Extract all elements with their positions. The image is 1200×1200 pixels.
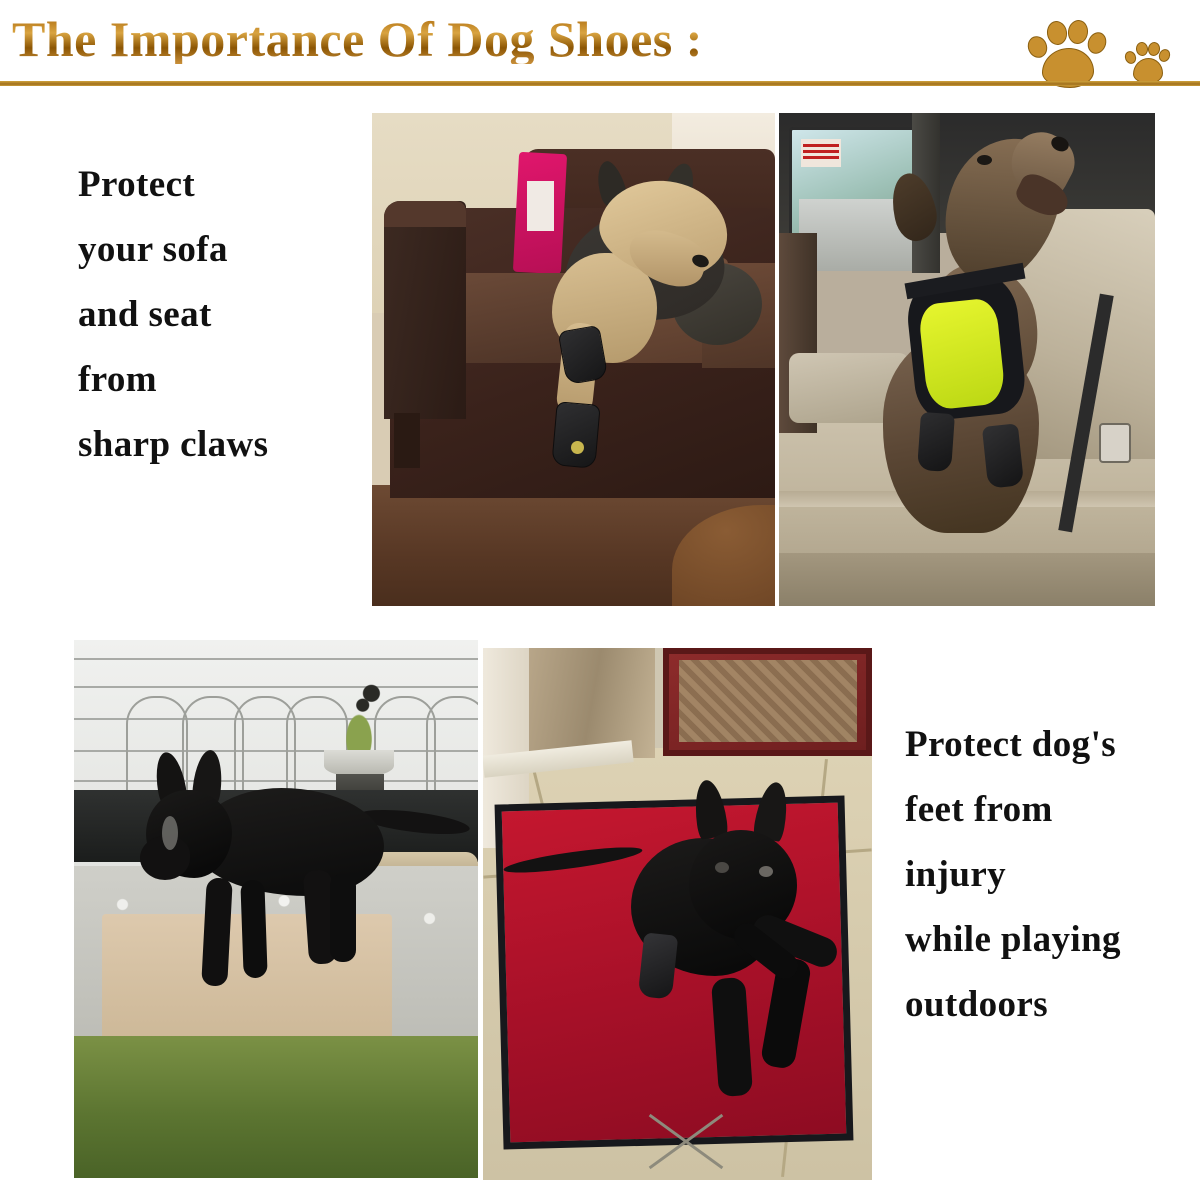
- caption-right-line-3: injury: [905, 842, 1197, 907]
- dog-harness-yellow: [918, 297, 1007, 411]
- siding-line: [74, 658, 478, 660]
- caption-right: Protect dog's feet from injury while pla…: [905, 712, 1197, 1038]
- sofa-leg: [394, 413, 420, 468]
- caption-left: Protect your sofa and seat from sharp cl…: [78, 152, 368, 478]
- title-divider-rule: [0, 81, 1200, 86]
- dog-eye: [759, 866, 773, 877]
- green-grass-lawn: [74, 1036, 478, 1178]
- seat-belt-buckle: [1099, 423, 1131, 463]
- window-sticker-text: [803, 144, 839, 160]
- paw-toe: [1025, 33, 1051, 61]
- oriental-rug-pattern: [679, 660, 857, 742]
- caption-left-line-3: and seat: [78, 282, 368, 347]
- dog-chest-marking: [162, 816, 178, 850]
- caption-left-line-1: Protect: [78, 152, 368, 217]
- dog-eye: [715, 862, 729, 873]
- caption-right-line-4: while playing: [905, 907, 1197, 972]
- caption-right-line-5: outdoors: [905, 972, 1197, 1037]
- potted-plant-foliage: [328, 680, 390, 754]
- pillow-tag: [527, 181, 554, 231]
- dog-boot-reflector: [571, 441, 584, 454]
- siding-line: [74, 686, 478, 688]
- page-header: The Importance Of Dog Shoes :: [0, 0, 1200, 90]
- caption-right-line-1: Protect dog's: [905, 712, 1197, 777]
- decorative-fence-arch: [426, 696, 478, 794]
- curtain: [529, 648, 655, 758]
- dog-boot: [917, 412, 955, 472]
- dog-boot: [551, 401, 600, 469]
- photo-dog-on-red-mat: [483, 648, 872, 1180]
- plant-pot: [324, 750, 394, 776]
- paw-toe: [1066, 19, 1089, 46]
- photo-dog-outdoors: [74, 640, 478, 1178]
- car-seat-edge: [779, 553, 1155, 606]
- dog-hind-leg: [330, 874, 356, 962]
- paw-toe: [1045, 20, 1069, 47]
- photo-dog-on-sofa: [372, 113, 775, 606]
- caption-left-line-5: sharp claws: [78, 412, 368, 477]
- paw-toe: [1085, 29, 1110, 56]
- photo-dog-in-car: [779, 113, 1155, 606]
- paw-print-small-icon: [1124, 40, 1172, 86]
- dog-eye: [977, 155, 992, 165]
- paw-print-icon: [1026, 18, 1108, 86]
- paw-prints-group: [1020, 12, 1190, 86]
- dog-boot: [558, 325, 609, 385]
- sofa-armrest: [384, 201, 466, 419]
- caption-left-line-2: your sofa: [78, 217, 368, 282]
- dog-boot: [982, 423, 1024, 488]
- caption-left-line-4: from: [78, 347, 368, 412]
- page-title: The Importance Of Dog Shoes :: [12, 14, 703, 64]
- dog-front-leg: [240, 880, 267, 979]
- sofa-armrest-top: [384, 201, 466, 227]
- caption-right-line-2: feet from: [905, 777, 1197, 842]
